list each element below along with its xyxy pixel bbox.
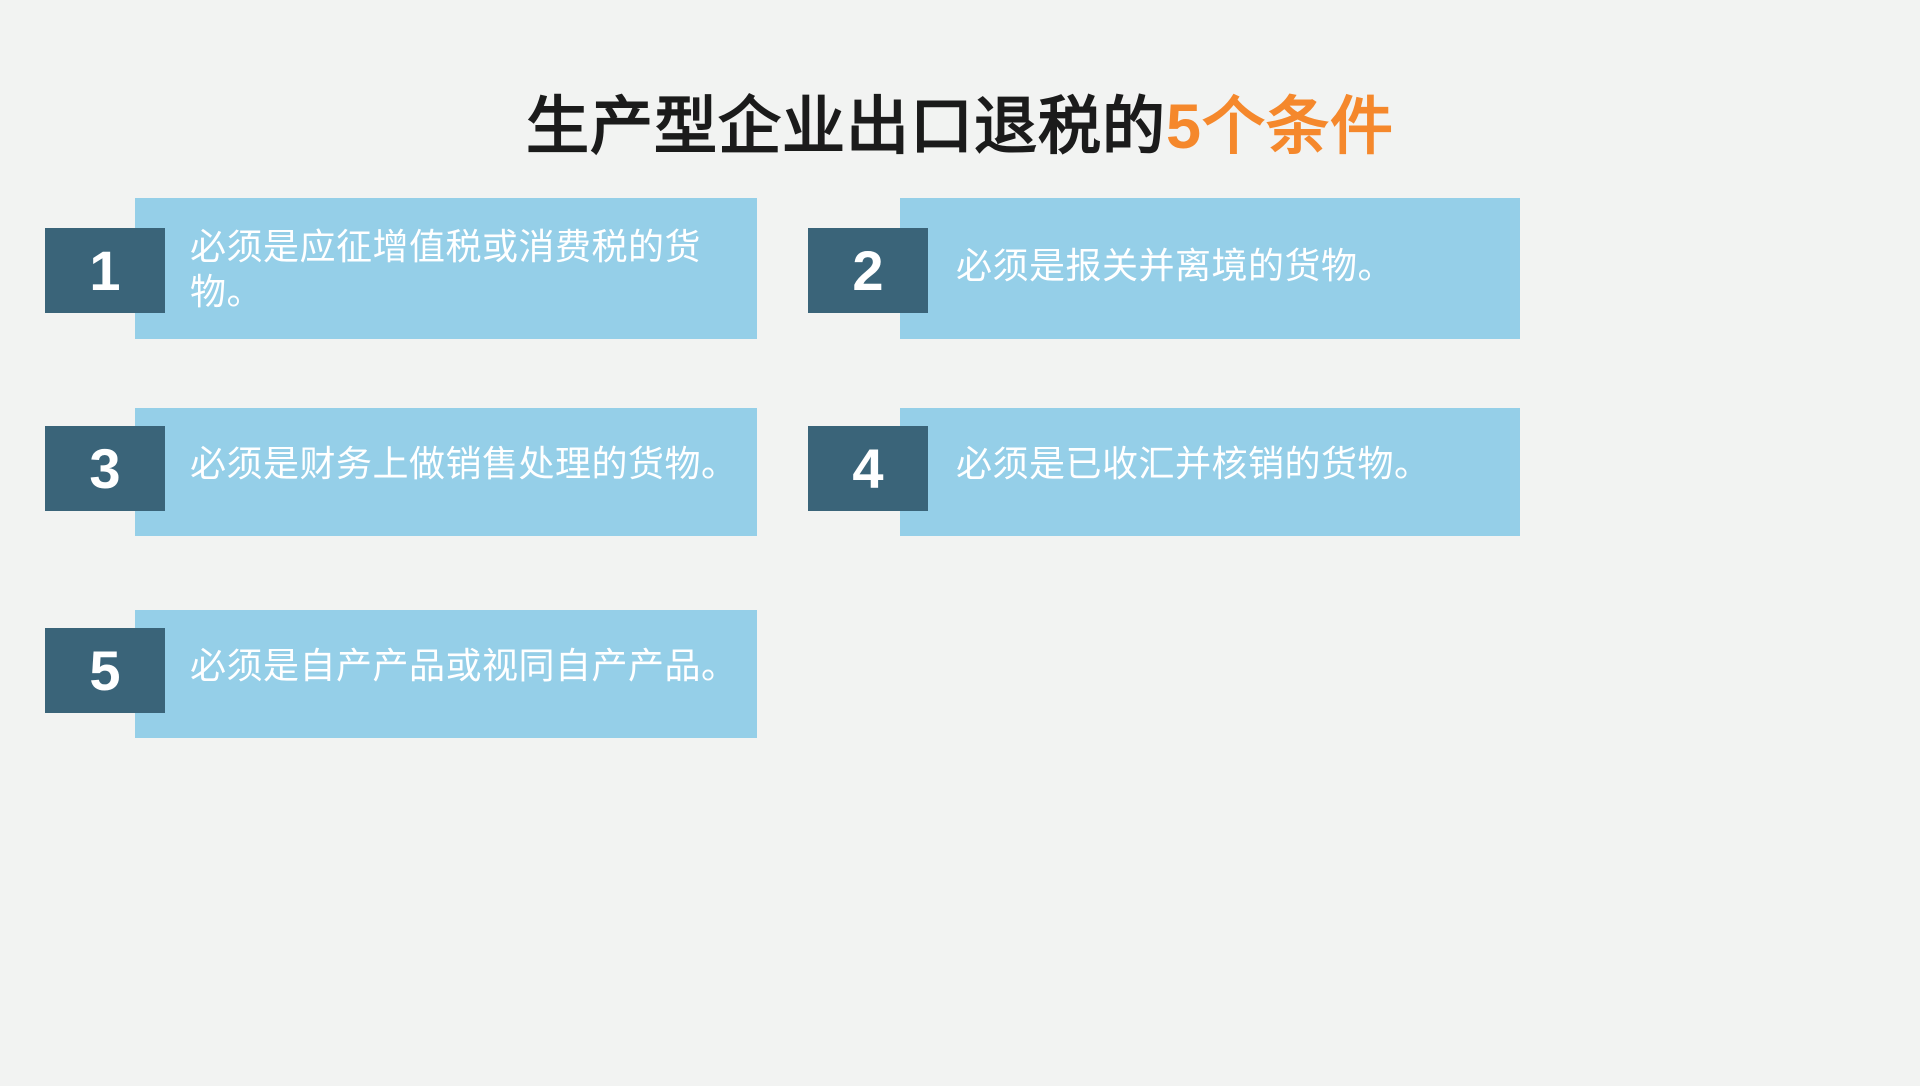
condition-text-2: 必须是报关并离境的货物。 <box>956 244 1516 289</box>
page-title: 生产型企业出口退税的5个条件 <box>0 92 1920 163</box>
condition-card-2: 2 必须是报关并离境的货物。 <box>808 198 1523 413</box>
page-title-main: 生产型企业出口退税的 <box>526 92 1166 162</box>
page-title-accent: 5个条件 <box>1166 92 1394 162</box>
condition-text-3: 必须是财务上做销售处理的货物。 <box>190 442 790 487</box>
condition-card-3: 3 必须是财务上做销售处理的货物。 <box>45 396 760 611</box>
condition-card-4: 4 必须是已收汇并核销的货物。 <box>808 396 1523 611</box>
condition-number-badge-4: 4 <box>808 426 928 511</box>
condition-card-1: 1 必须是应征增值税或消费税的货物。 <box>45 198 760 413</box>
condition-card-5: 5 必须是自产产品或视同自产产品。 <box>45 598 760 813</box>
condition-number-badge-1: 1 <box>45 228 165 313</box>
condition-text-4: 必须是已收汇并核销的货物。 <box>956 442 1526 487</box>
condition-text-1: 必须是应征增值税或消费税的货物。 <box>190 225 740 314</box>
infographic-canvas: 生产型企业出口退税的5个条件 1 必须是应征增值税或消费税的货物。 2 必须是报… <box>0 0 1920 1086</box>
condition-number-badge-2: 2 <box>808 228 928 313</box>
condition-number-badge-3: 3 <box>45 426 165 511</box>
condition-number-badge-5: 5 <box>45 628 165 713</box>
condition-text-5: 必须是自产产品或视同自产产品。 <box>190 644 790 689</box>
